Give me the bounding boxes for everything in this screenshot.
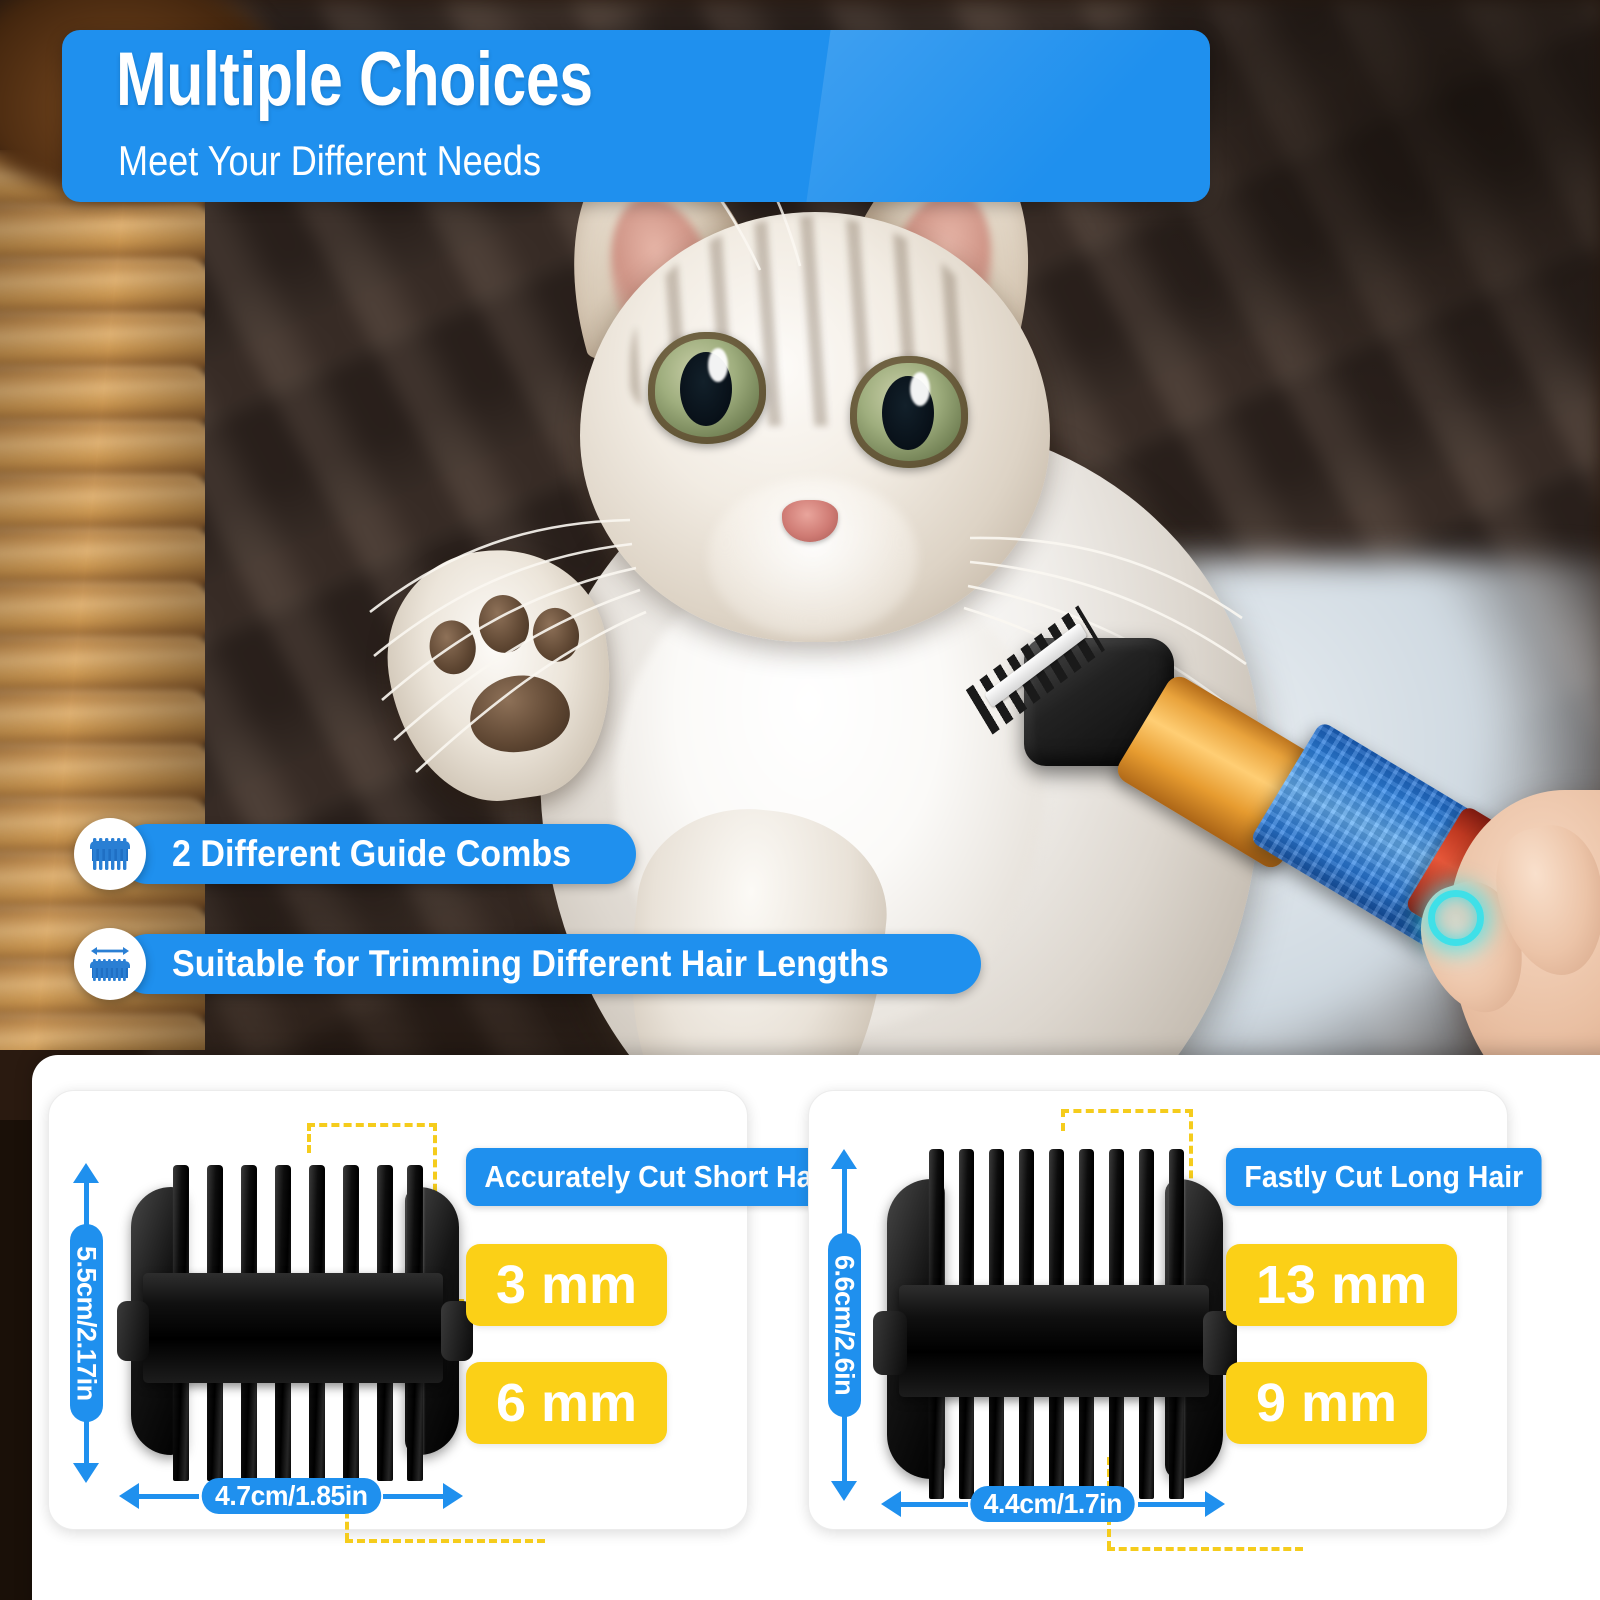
long-hair-headline: Fastly Cut Long Hair [1226,1148,1542,1206]
comb-width-dimension: 4.7cm/1.85in [119,1483,463,1509]
comb-height-label: 6.6cm/2.6in [828,1233,861,1417]
feature-label: Suitable for Trimming Different Hair Len… [172,943,889,985]
comb-width-arrow-icon [74,928,146,1000]
guide-comb-icon [74,818,146,890]
infographic-root: Multiple Choices Meet Your Different Nee… [0,0,1600,1600]
comb-width-dimension: 4.4cm/1.7in [881,1491,1225,1517]
short-hair-headline: Accurately Cut Short Hair [466,1148,850,1206]
feature-item-hair-lengths: Suitable for Trimming Different Hair Len… [74,928,981,1000]
power-button-glow-icon [1428,890,1484,946]
long-hair-labels: Fastly Cut Long Hair 13 mm 9 mm [1226,1148,1569,1444]
comb-width-label: 4.4cm/1.7in [971,1486,1136,1522]
page-title: Multiple Choices [116,42,593,118]
short-hair-length-1: 3 mm [466,1244,667,1326]
feature-label: 2 Different Guide Combs [172,833,571,875]
comb-height-label: 5.5cm/2.17in [70,1224,103,1423]
feature-pill: 2 Different Guide Combs [118,824,636,884]
long-hair-length-1: 13 mm [1226,1244,1457,1326]
kitten-eye-right [850,356,968,468]
comb-height-dimension: 5.5cm/2.17in [73,1163,99,1483]
comb-illustration [893,1139,1217,1511]
comb-width-label: 4.7cm/1.85in [201,1478,380,1514]
short-hair-length-2: 6 mm [466,1362,667,1444]
feature-pill: Suitable for Trimming Different Hair Len… [118,934,981,994]
feature-item-guide-combs: 2 Different Guide Combs [74,818,636,890]
comb-height-dimension: 6.6cm/2.6in [831,1149,857,1501]
pet-clipper [980,590,1600,1120]
comb-illustration [135,1151,455,1491]
kitten-eye-left [648,332,766,444]
long-hair-length-2: 9 mm [1226,1362,1427,1444]
page-subtitle: Meet Your Different Needs [118,140,541,182]
wicker-basket [0,150,205,1050]
header-banner: Multiple Choices Meet Your Different Nee… [62,30,1210,202]
